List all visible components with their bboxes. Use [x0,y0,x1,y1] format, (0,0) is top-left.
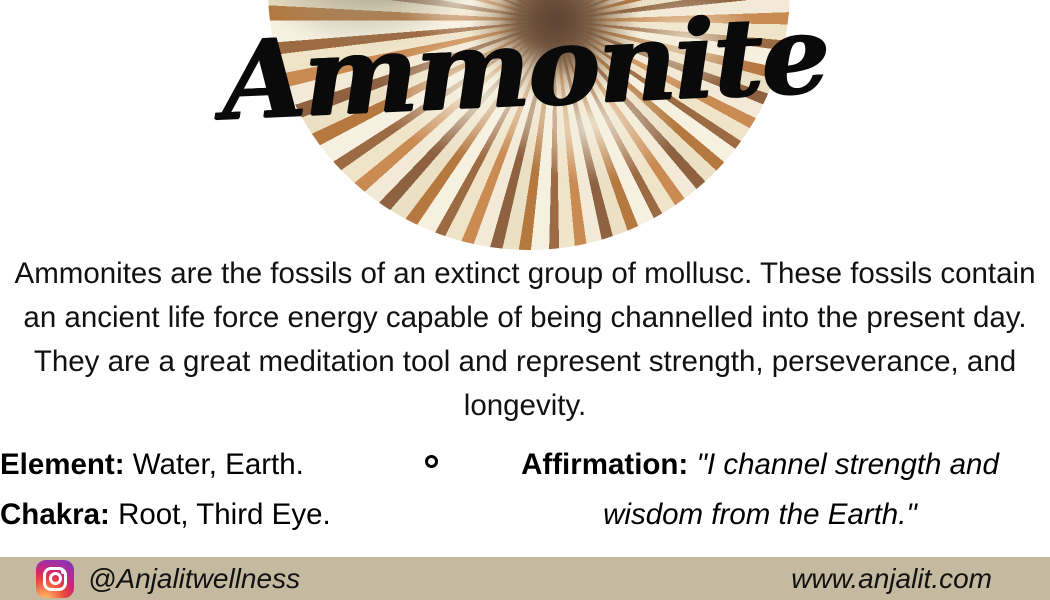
affirmation-quote-line-2: wisdom from the Earth." [603,498,917,531]
attributes-left-column: Element: Water, Earth. Chakra: Root, Thi… [0,440,400,540]
website-url[interactable]: www.anjalit.com [791,565,992,593]
footer-social[interactable]: @Anjalitwellness [36,557,300,600]
affirmation-label: Affirmation: [521,448,688,481]
instagram-lens-shape [49,572,62,585]
affirmation-row-2: wisdom from the Earth." [470,490,1050,540]
instagram-handle[interactable]: @Anjalitwellness [88,565,300,593]
instagram-icon[interactable] [36,560,74,598]
element-label: Element: [0,448,125,481]
element-value: Water, Earth. [133,448,304,481]
affirmation-quote-line-1: "I channel strength and [696,448,998,481]
footer-bar: @Anjalitwellness www.anjalit.com [0,557,1050,600]
element-row: Element: Water, Earth. [0,440,400,490]
crystal-info-card: Ammonite Ammonites are the fossils of an… [0,0,1050,600]
circle-bullet-icon [425,455,438,468]
attributes-row: Element: Water, Earth. Chakra: Root, Thi… [0,440,1050,540]
chakra-value: Root, Third Eye. [118,498,331,531]
instagram-dot-shape [61,570,65,574]
chakra-label: Chakra: [0,498,110,531]
affirmation-row-1: Affirmation: "I channel strength and [470,440,1050,490]
attributes-right-column: Affirmation: "I channel strength and wis… [470,440,1050,540]
description-paragraph: Ammonites are the fossils of an extinct … [8,252,1042,428]
chakra-row: Chakra: Root, Third Eye. [0,490,400,540]
footer-website[interactable]: www.anjalit.com [791,557,992,600]
